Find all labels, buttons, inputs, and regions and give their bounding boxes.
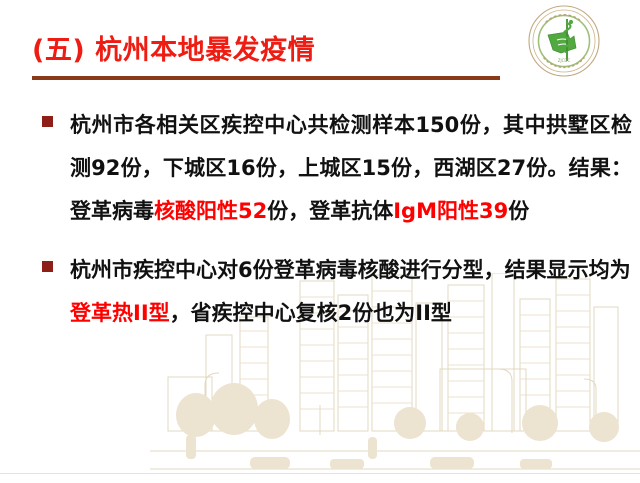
bottom-divider	[0, 473, 640, 474]
text-segment: 份	[508, 199, 529, 223]
svg-text:ZJCDC: ZJCDC	[558, 58, 571, 63]
bullet-text-2: 杭州市疾控中心对6份登革病毒核酸进行分型，结果显示均为登革热II型，省疾控中心复…	[70, 249, 632, 335]
bullet-square-icon	[42, 116, 53, 127]
text-segment: ，省疾控中心复核2份也为II型	[170, 301, 452, 325]
bullet-square-icon	[42, 261, 53, 272]
slide-body: 杭州市各相关区疾控中心共检测样本150份，其中拱墅区检测92份，下城区16份，上…	[0, 104, 640, 351]
slide-canvas: ZJCDC (五) 杭州本地暴发疫情 杭州市各相关区疾控中心共检测样本150份，…	[0, 0, 640, 483]
page-title: (五) 杭州本地暴发疫情	[32, 34, 502, 68]
bullet-text-1: 杭州市各相关区疾控中心共检测样本150份，其中拱墅区检测92份，下城区16份，上…	[70, 104, 632, 233]
list-item: 杭州市各相关区疾控中心共检测样本150份，其中拱墅区检测92份，下城区16份，上…	[0, 104, 640, 233]
text-segment: 份，登革抗体	[267, 199, 393, 223]
title-underline	[32, 76, 500, 80]
highlight-segment: 登革热II型	[70, 301, 170, 325]
highlight-segment: 核酸阳性52	[154, 199, 267, 223]
slide-title-block: (五) 杭州本地暴发疫情	[32, 34, 502, 80]
list-item: 杭州市疾控中心对6份登革病毒核酸进行分型，结果显示均为登革热II型，省疾控中心复…	[0, 249, 640, 335]
text-segment: 杭州市疾控中心对6份登革病毒核酸进行分型，结果显示均为	[70, 258, 631, 282]
zjcdc-seal-logo: ZJCDC	[527, 4, 601, 78]
highlight-segment: IgM阳性39	[393, 199, 508, 223]
